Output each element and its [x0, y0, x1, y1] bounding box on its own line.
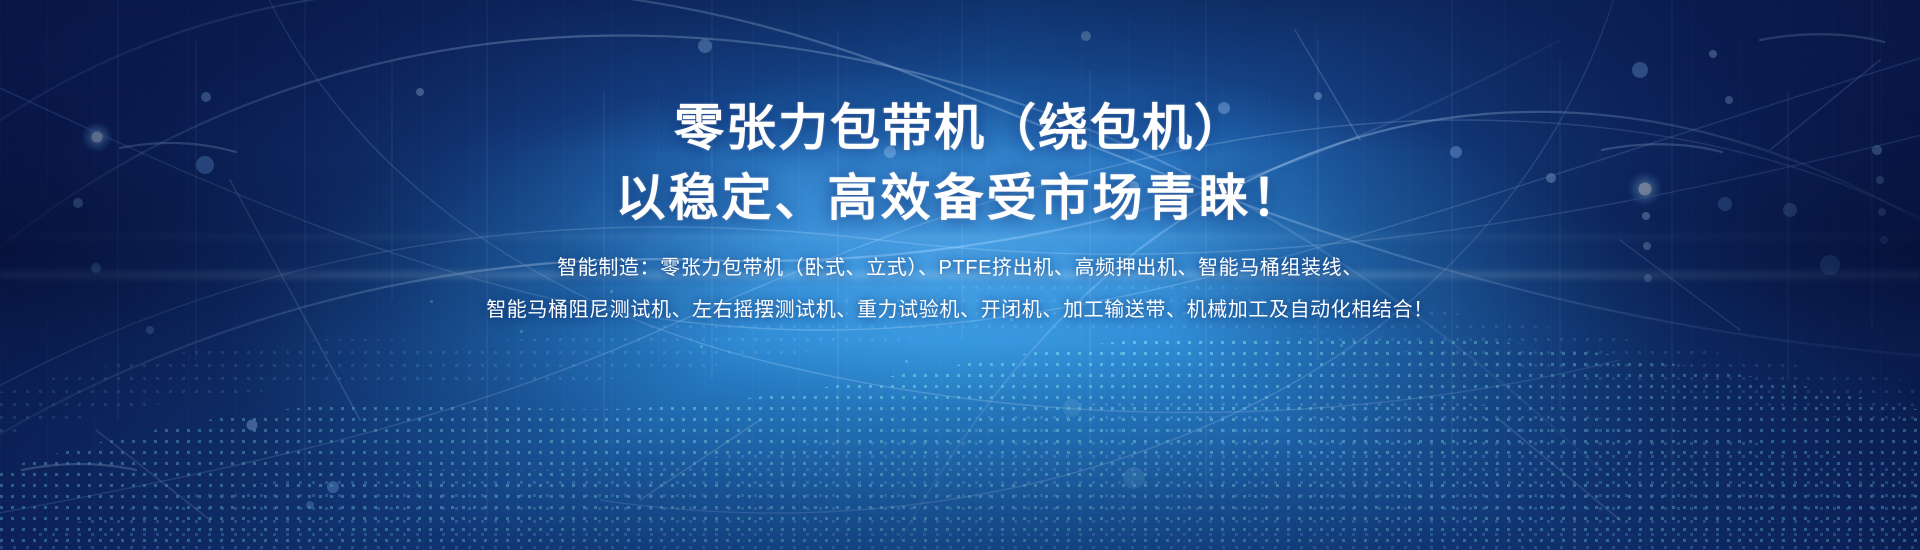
- subtitle-line-1: 智能制造：零张力包带机（卧式、立式）、PTFE挤出机、高频押出机、智能马桶组装线…: [557, 258, 1363, 278]
- promo-banner: 零张力包带机（绕包机） 以稳定、高效备受市场青睐！ 智能制造：零张力包带机（卧式…: [0, 0, 1920, 550]
- headline-line-2: 以稳定、高效备受市场青睐！: [616, 166, 1305, 230]
- headline-line-1: 零张力包带机（绕包机）: [674, 96, 1246, 160]
- banner-content: 零张力包带机（绕包机） 以稳定、高效备受市场青睐！ 智能制造：零张力包带机（卧式…: [0, 0, 1920, 550]
- subtitle-line-2: 智能马桶阻尼测试机、左右摇摆测试机、重力试验机、开闭机、加工输送带、机械加工及自…: [486, 300, 1434, 320]
